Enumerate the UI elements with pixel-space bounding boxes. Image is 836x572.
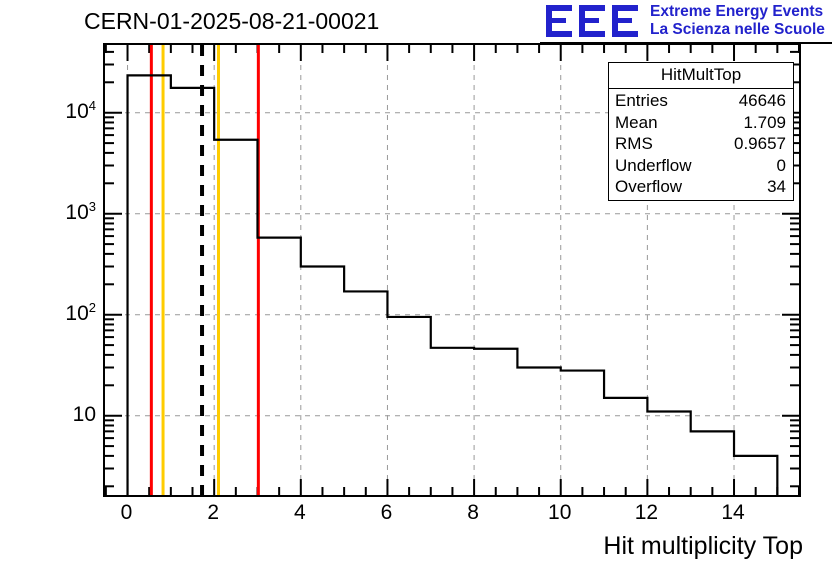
stats-box: HitMultTop Entries46646Mean1.709RMS0.965…	[608, 62, 794, 201]
stats-row-label: Underflow	[615, 155, 692, 177]
stats-row-value: 0	[767, 155, 786, 177]
stats-row: Underflow0	[609, 155, 793, 177]
stats-row-label: RMS	[615, 133, 653, 155]
stats-row-value: 0.9657	[724, 133, 786, 155]
x-tick-label: 4	[294, 502, 306, 523]
stats-row-value: 46646	[729, 90, 786, 112]
x-tick-label: 12	[635, 502, 658, 523]
x-tick-label: 8	[467, 502, 479, 523]
stats-rows: Entries46646Mean1.709RMS0.9657Underflow0…	[609, 89, 793, 200]
stats-row: RMS0.9657	[609, 133, 793, 155]
x-tick-label: 2	[207, 502, 219, 523]
stats-row-label: Overflow	[615, 176, 682, 198]
stats-title: HitMultTop	[609, 63, 793, 89]
x-tick-label: 0	[121, 502, 133, 523]
stats-row-value: 1.709	[733, 112, 786, 134]
stats-row: Overflow34	[609, 176, 793, 198]
x-axis-title: Hit multiplicity Top	[603, 531, 803, 561]
x-tick-label: 14	[721, 502, 744, 523]
stats-row-label: Mean	[615, 112, 658, 134]
stats-row: Mean1.709	[609, 112, 793, 134]
stats-row-value: 34	[757, 176, 786, 198]
x-tick-label: 10	[548, 502, 571, 523]
x-tick-label: 6	[381, 502, 393, 523]
stats-row-label: Entries	[615, 90, 668, 112]
stats-row: Entries46646	[609, 90, 793, 112]
